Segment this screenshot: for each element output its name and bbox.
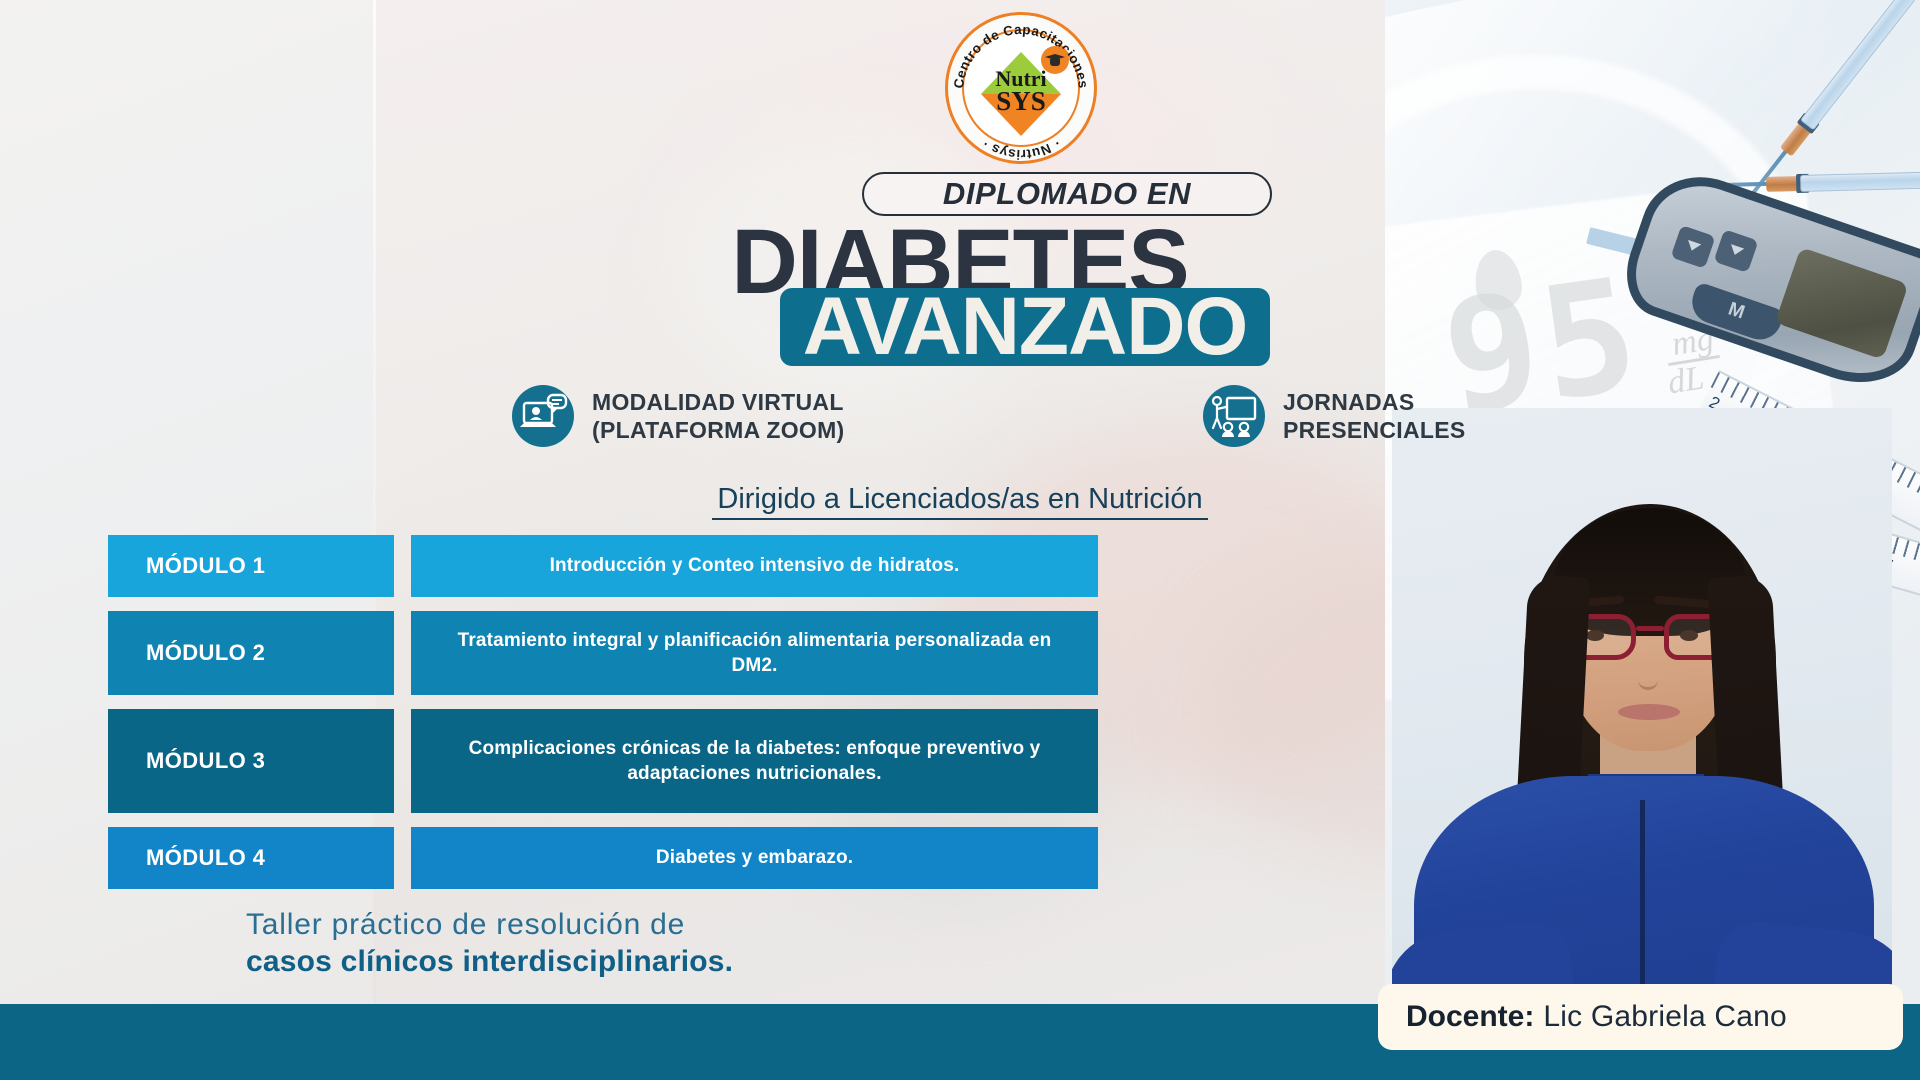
nutrisys-logo: Centro de Capacitaciones · Nutrisys · Nu… xyxy=(945,12,1097,164)
logo-word-bottom: SYS xyxy=(945,86,1097,117)
table-row: MÓDULO 2Tratamiento integral y planifica… xyxy=(108,611,1098,695)
eyebrow-text: DIPLOMADO EN xyxy=(943,176,1191,212)
workshop-line2: casos clínicos interdisciplinarios. xyxy=(246,945,733,979)
module-label-3: MÓDULO 3 xyxy=(108,709,394,813)
classroom-presentation-icon xyxy=(1203,385,1265,447)
eyebrow-pill: DIPLOMADO EN xyxy=(862,172,1272,216)
module-label-1: MÓDULO 1 xyxy=(108,535,394,597)
svg-text:· Nutrisys ·: · Nutrisys · xyxy=(979,136,1063,162)
module-description-1: Introducción y Conteo intensivo de hidra… xyxy=(411,535,1098,597)
modality-virtual-line1: MODALIDAD VIRTUAL xyxy=(592,388,845,416)
poster-canvas: 95 mg dL M 2 3 4 26 27 28 xyxy=(0,0,1920,1080)
teacher-name: Lic Gabriela Cano xyxy=(1543,1000,1787,1034)
modality-presencial-line2: PRESENCIALES xyxy=(1283,416,1466,444)
page-subtitle: AVANZADO xyxy=(780,288,1270,366)
modality-virtual-line2: (PLATAFORMA ZOOM) xyxy=(592,416,845,444)
modules-table: MÓDULO 1Introducción y Conteo intensivo … xyxy=(108,535,1098,903)
table-row: MÓDULO 4Diabetes y embarazo. xyxy=(108,827,1098,889)
glucose-unit-denominator: dL xyxy=(1665,359,1706,402)
teacher-label: Docente: xyxy=(1406,1000,1534,1034)
workshop-note: Taller práctico de resolución de casos c… xyxy=(246,908,733,979)
modality-presencial-text: JORNADAS PRESENCIALES xyxy=(1283,388,1466,444)
audience-text: Dirigido a Licenciados/as en Nutrición xyxy=(712,483,1207,520)
module-label-2: MÓDULO 2 xyxy=(108,611,394,695)
modality-presencial: JORNADAS PRESENCIALES xyxy=(1203,385,1466,447)
module-description-4: Diabetes y embarazo. xyxy=(411,827,1098,889)
module-description-2: Tratamiento integral y planificación ali… xyxy=(411,611,1098,695)
modality-virtual-text: MODALIDAD VIRTUAL (PLATAFORMA ZOOM) xyxy=(592,388,845,444)
table-row: MÓDULO 1Introducción y Conteo intensivo … xyxy=(108,535,1098,597)
teacher-card: Docente: Lic Gabriela Cano xyxy=(1378,984,1903,1050)
workshop-line1: Taller práctico de resolución de xyxy=(246,908,733,942)
audience-line: Dirigido a Licenciados/as en Nutrición xyxy=(0,483,1920,516)
module-description-3: Complicaciones crónicas de la diabetes: … xyxy=(411,709,1098,813)
modality-presencial-line1: JORNADAS xyxy=(1283,388,1466,416)
graduation-cap-icon xyxy=(1041,46,1069,74)
laptop-video-call-icon xyxy=(512,385,574,447)
modality-virtual: MODALIDAD VIRTUAL (PLATAFORMA ZOOM) xyxy=(512,385,845,447)
table-row: MÓDULO 3Complicaciones crónicas de la di… xyxy=(108,709,1098,813)
module-label-4: MÓDULO 4 xyxy=(108,827,394,889)
